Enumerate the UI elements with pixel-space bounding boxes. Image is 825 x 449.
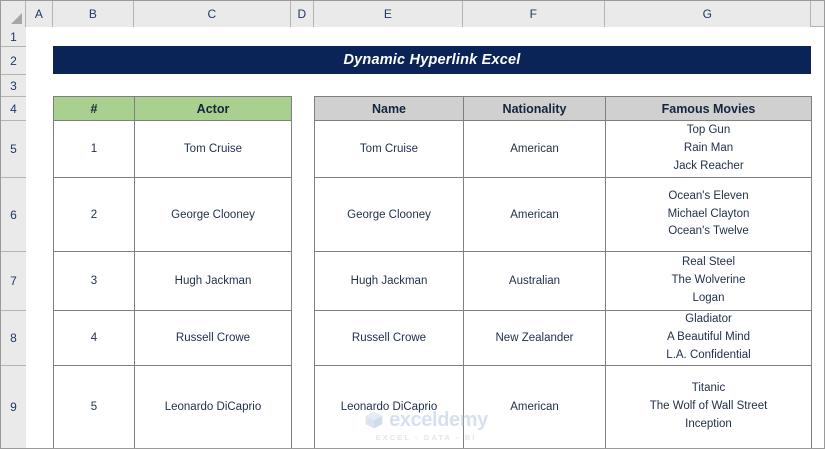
row-header-9[interactable]: 9	[1, 366, 26, 449]
detail-cell-movies[interactable]: Real SteelThe WolverineLogan	[606, 252, 812, 311]
detail-table-row[interactable]: Leonardo DiCaprioAmericanTitanicThe Wolf…	[315, 366, 812, 449]
detail-cell-nationality[interactable]: New Zealander	[464, 311, 606, 366]
row-header-1[interactable]: 1	[1, 27, 26, 47]
select-all-corner[interactable]	[1, 1, 26, 27]
detail-cell-name[interactable]: George Clooney	[315, 178, 464, 252]
title-banner: Dynamic Hyperlink Excel	[53, 46, 811, 74]
row-header-8[interactable]: 8	[1, 311, 26, 366]
movie-title: A Beautiful Mind	[609, 329, 808, 347]
detail-cell-nationality[interactable]: Australian	[464, 252, 606, 311]
actor-cell-name[interactable]: Hugh Jackman	[135, 252, 292, 311]
detail-table-row[interactable]: Tom CruiseAmericanTop GunRain ManJack Re…	[315, 121, 812, 178]
column-header-b[interactable]: B	[53, 1, 134, 27]
movie-title: Inception	[609, 416, 808, 434]
excel-worksheet: ABCDEFG 123456789 Dynamic Hyperlink Exce…	[0, 0, 825, 449]
actor-table-row[interactable]: 3Hugh Jackman	[54, 252, 292, 311]
detail-cell-movies[interactable]: Top GunRain ManJack Reacher	[606, 121, 812, 178]
detail-cell-name[interactable]: Leonardo DiCaprio	[315, 366, 464, 449]
actor-cell-number[interactable]: 2	[54, 178, 135, 252]
movie-title: Gladiator	[609, 311, 808, 329]
sheet-canvas: Dynamic Hyperlink Excel # Actor 1Tom Cru…	[26, 27, 825, 449]
detail-cell-movies[interactable]: TitanicThe Wolf of Wall StreetInception	[606, 366, 812, 449]
movie-title: Jack Reacher	[609, 158, 808, 176]
row-header-3[interactable]: 3	[1, 75, 26, 97]
column-header-c[interactable]: C	[134, 1, 291, 27]
detail-cell-name[interactable]: Tom Cruise	[315, 121, 464, 178]
row-header-2[interactable]: 2	[1, 47, 26, 75]
actor-col-header-actor: Actor	[135, 97, 292, 121]
actor-cell-name[interactable]: George Clooney	[135, 178, 292, 252]
movie-title: Top Gun	[609, 122, 808, 140]
movie-title: Rain Man	[609, 140, 808, 158]
movie-title: The Wolverine	[609, 272, 808, 290]
detail-table-row[interactable]: Russell CroweNew ZealanderGladiatorA Bea…	[315, 311, 812, 366]
detail-table-header-row: Name Nationality Famous Movies	[315, 97, 812, 121]
column-header-g[interactable]: G	[605, 1, 811, 27]
actor-cell-name[interactable]: Russell Crowe	[135, 311, 292, 366]
actor-cell-number[interactable]: 5	[54, 366, 135, 449]
detail-col-header-nationality: Nationality	[464, 97, 606, 121]
row-header-7[interactable]: 7	[1, 252, 26, 311]
actor-table-header-row: # Actor	[54, 97, 292, 121]
detail-table-row[interactable]: Hugh JackmanAustralianReal SteelThe Wolv…	[315, 252, 812, 311]
movie-title: Michael Clayton	[609, 206, 808, 224]
actor-cell-number[interactable]: 4	[54, 311, 135, 366]
row-header-6[interactable]: 6	[1, 178, 26, 252]
detail-cell-name[interactable]: Russell Crowe	[315, 311, 464, 366]
actor-cell-name[interactable]: Leonardo DiCaprio	[135, 366, 292, 449]
movie-title: Titanic	[609, 380, 808, 398]
detail-cell-nationality[interactable]: American	[464, 178, 606, 252]
column-header-a[interactable]: A	[26, 1, 53, 27]
actor-table-row[interactable]: 1Tom Cruise	[54, 121, 292, 178]
actor-table-row[interactable]: 4Russell Crowe	[54, 311, 292, 366]
movie-title: Logan	[609, 290, 808, 308]
actor-col-header-number: #	[54, 97, 135, 121]
actor-table-row[interactable]: 5Leonardo DiCaprio	[54, 366, 292, 449]
movie-title: Ocean's Twelve	[609, 223, 808, 241]
row-header-5[interactable]: 5	[1, 121, 26, 178]
actor-table-row[interactable]: 2George Clooney	[54, 178, 292, 252]
movie-title: The Wolf of Wall Street	[609, 398, 808, 416]
column-header-f[interactable]: F	[463, 1, 605, 27]
detail-cell-nationality[interactable]: American	[464, 121, 606, 178]
movie-title: L.A. Confidential	[609, 347, 808, 365]
detail-col-header-movies: Famous Movies	[606, 97, 812, 121]
actor-cell-name[interactable]: Tom Cruise	[135, 121, 292, 178]
detail-col-header-name: Name	[315, 97, 464, 121]
column-header-d[interactable]: D	[291, 1, 314, 27]
actor-table: # Actor 1Tom Cruise2George Clooney3Hugh …	[53, 96, 292, 449]
movie-title: Real Steel	[609, 254, 808, 272]
detail-table-row[interactable]: George ClooneyAmericanOcean's ElevenMich…	[315, 178, 812, 252]
detail-cell-name[interactable]: Hugh Jackman	[315, 252, 464, 311]
movie-title: Ocean's Eleven	[609, 188, 808, 206]
actor-cell-number[interactable]: 1	[54, 121, 135, 178]
detail-cell-nationality[interactable]: American	[464, 366, 606, 449]
column-header-strip: ABCDEFG	[1, 1, 825, 27]
column-header-list: ABCDEFG	[26, 1, 811, 26]
row-header-4[interactable]: 4	[1, 97, 26, 121]
actor-cell-number[interactable]: 3	[54, 252, 135, 311]
detail-table: Name Nationality Famous Movies Tom Cruis…	[314, 96, 812, 449]
page-title: Dynamic Hyperlink Excel	[343, 52, 520, 68]
column-header-e[interactable]: E	[314, 1, 463, 27]
detail-cell-movies[interactable]: Ocean's ElevenMichael ClaytonOcean's Twe…	[606, 178, 812, 252]
detail-cell-movies[interactable]: GladiatorA Beautiful MindL.A. Confidenti…	[606, 311, 812, 366]
row-header-strip: 123456789	[1, 27, 26, 449]
